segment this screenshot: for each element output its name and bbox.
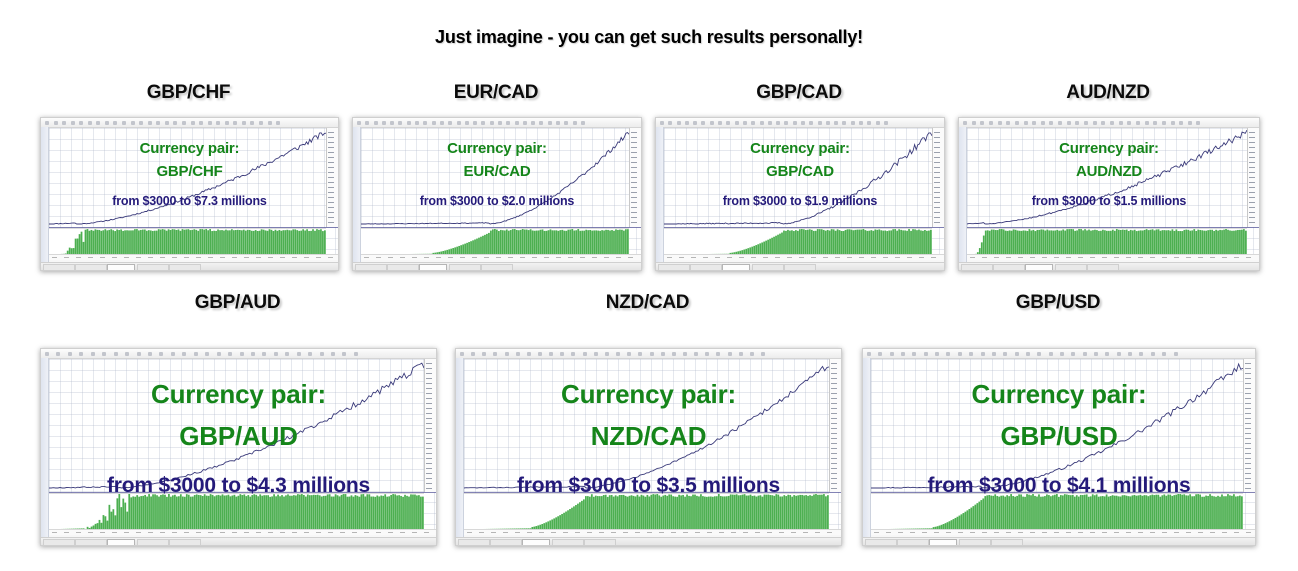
panel-title-nzdcad: NZD/CAD: [455, 292, 840, 314]
toolbar[interactable]: [456, 349, 841, 359]
time-axis: [664, 254, 944, 260]
page-title: Just imagine - you can get such results …: [0, 27, 1298, 48]
price-scale: [326, 128, 338, 227]
price-scale: [829, 359, 841, 492]
time-axis: [871, 529, 1255, 535]
toolbar[interactable]: [353, 118, 641, 128]
navigator-sidebar[interactable]: [656, 127, 664, 270]
terminal-gbpchf[interactable]: Currency pair:GBP/CHFfrom $3000 to $7.3 …: [40, 117, 339, 271]
equity-curve: [49, 359, 424, 492]
terminal-audnzd[interactable]: Currency pair:AUD/NZDfrom $3000 to $1.5 …: [958, 117, 1260, 271]
equity-curve: [871, 359, 1243, 492]
panel-title-gbpaud: GBP/AUD: [40, 292, 435, 314]
time-axis: [49, 529, 436, 535]
equity-curve: [361, 128, 629, 227]
price-scale: [1243, 359, 1255, 492]
tester-tabstrip[interactable]: [863, 537, 1255, 545]
profit-histogram: [49, 228, 326, 255]
tester-tabstrip[interactable]: [353, 262, 641, 270]
panel-title-gbpusd: GBP/USD: [862, 292, 1254, 314]
tester-tabstrip[interactable]: [41, 537, 436, 545]
panel-title-gbpcad: GBP/CAD: [655, 82, 943, 104]
navigator-sidebar[interactable]: [959, 127, 967, 270]
equity-curve: [967, 128, 1247, 227]
time-axis: [361, 254, 641, 260]
tester-tabstrip[interactable]: [656, 262, 944, 270]
time-axis: [464, 529, 841, 535]
tester-tabstrip[interactable]: [456, 537, 841, 545]
toolbar[interactable]: [41, 118, 338, 128]
navigator-sidebar[interactable]: [456, 358, 464, 545]
terminal-nzdcad[interactable]: Currency pair:NZD/CADfrom $3000 to $3.5 …: [455, 348, 842, 546]
profit-histogram: [464, 493, 829, 530]
terminal-gbpcad[interactable]: Currency pair:GBP/CADfrom $3000 to $1.9 …: [655, 117, 945, 271]
navigator-sidebar[interactable]: [41, 127, 49, 270]
toolbar[interactable]: [863, 349, 1255, 359]
equity-curve: [664, 128, 932, 227]
profit-histogram: [967, 228, 1247, 255]
tester-tabstrip[interactable]: [41, 262, 338, 270]
equity-curve: [464, 359, 829, 492]
terminal-eurcad[interactable]: Currency pair:EUR/CADfrom $3000 to $2.0 …: [352, 117, 642, 271]
profit-histogram: [361, 228, 629, 255]
navigator-sidebar[interactable]: [863, 358, 871, 545]
price-scale: [629, 128, 641, 227]
navigator-sidebar[interactable]: [353, 127, 361, 270]
price-scale: [424, 359, 436, 492]
time-axis: [967, 254, 1259, 260]
tester-tabstrip[interactable]: [959, 262, 1259, 270]
toolbar[interactable]: [959, 118, 1259, 128]
toolbar[interactable]: [656, 118, 944, 128]
price-scale: [1247, 128, 1259, 227]
time-axis: [49, 254, 338, 260]
panel-title-eurcad: EUR/CAD: [352, 82, 640, 104]
equity-curve: [49, 128, 326, 227]
profit-histogram: [664, 228, 932, 255]
price-scale: [932, 128, 944, 227]
terminal-gbpaud[interactable]: Currency pair:GBP/AUDfrom $3000 to $4.3 …: [40, 348, 437, 546]
terminal-gbpusd[interactable]: Currency pair:GBP/USDfrom $3000 to $4.1 …: [862, 348, 1256, 546]
profit-histogram: [49, 493, 424, 530]
profit-histogram: [871, 493, 1243, 530]
navigator-sidebar[interactable]: [41, 358, 49, 545]
panel-title-gbpchf: GBP/CHF: [40, 82, 337, 104]
panel-title-audnzd: AUD/NZD: [958, 82, 1258, 104]
toolbar[interactable]: [41, 349, 436, 359]
